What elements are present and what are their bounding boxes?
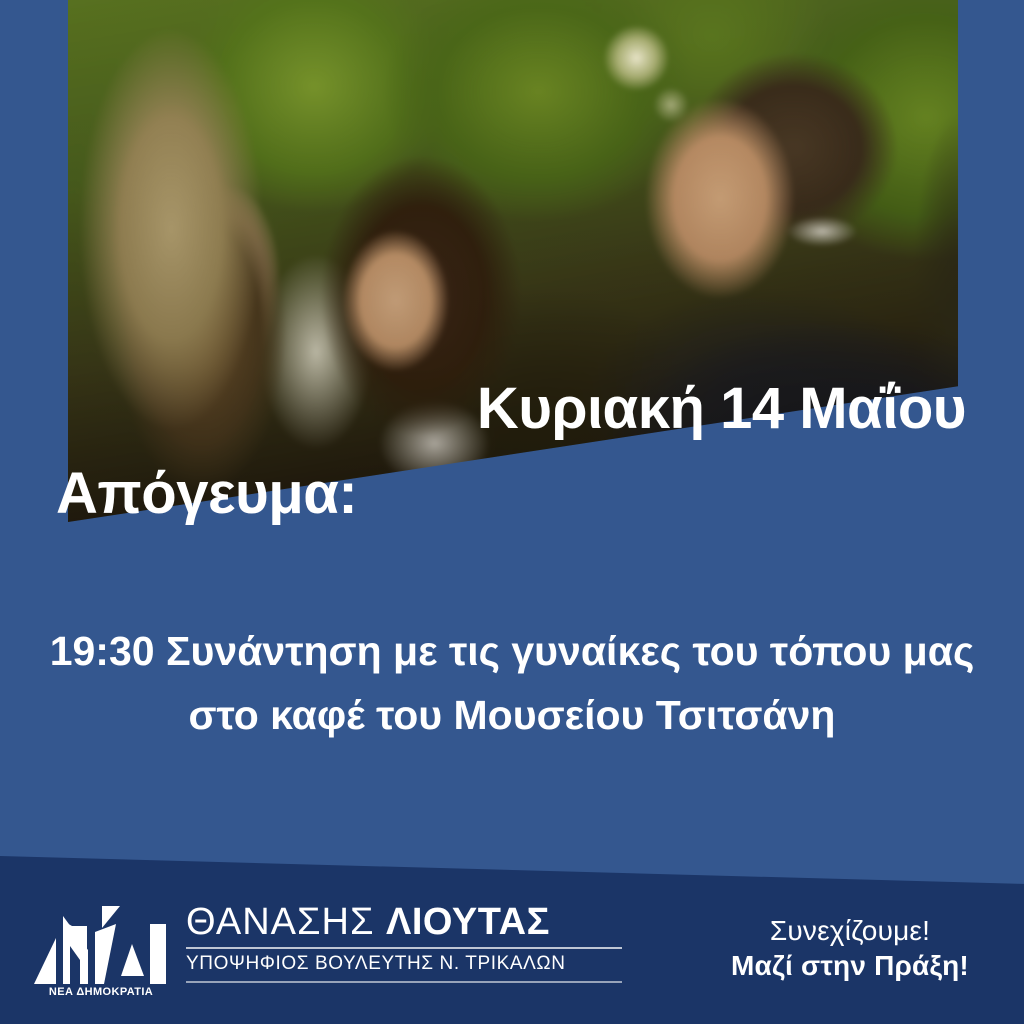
schedule-line-2: στο καφέ του Μουσείου Τσιτσάνη [26, 684, 998, 748]
footer-content: ΝΕΑ ΔΗΜΟΚΡΑΤΙΑ ΘΑΝΑΣΗΣ ΛΙΟΥΤΑΣ ΥΠΟΨΗΦΙΟΣ… [0, 854, 1024, 1024]
event-schedule: 19:30 Συνάντηση με τις γυναίκες του τόπο… [0, 620, 1024, 747]
slogan-line-2: Μαζί στην Πράξη! [700, 949, 1000, 984]
event-date: Κυριακή 14 Μαΐου [0, 379, 966, 440]
schedule-line-1: 19:30 Συνάντηση με τις γυναίκες του τόπο… [26, 620, 998, 684]
party-name-label: ΝΕΑ ΔΗΜΟΚΡΑΤΙΑ [26, 986, 176, 998]
campaign-poster: Κυριακή 14 Μαΐου Απόγευμα: 19:30 Συνάντη… [0, 0, 1024, 1024]
party-logo: ΝΕΑ ΔΗΜΟΚΡΑΤΙΑ [26, 902, 176, 1006]
candidate-name: ΘΑΝΑΣΗΣ ΛΙΟΥΤΑΣ [186, 902, 622, 942]
poster-footer: ΝΕΑ ΔΗΜΟΚΡΑΤΙΑ ΘΑΝΑΣΗΣ ΛΙΟΥΤΑΣ ΥΠΟΨΗΦΙΟΣ… [0, 854, 1024, 1024]
divider-top [186, 947, 622, 949]
candidate-identity: ΘΑΝΑΣΗΣ ΛΙΟΥΤΑΣ ΥΠΟΨΗΦΙΟΣ ΒΟΥΛΕΥΤΗΣ Ν. Τ… [186, 902, 622, 987]
candidate-first-name: ΘΑΝΑΣΗΣ [186, 901, 374, 943]
candidate-role: ΥΠΟΨΗΦΙΟΣ ΒΟΥΛΕΥΤΗΣ Ν. ΤΡΙΚΑΛΩΝ [186, 953, 622, 977]
event-photo [68, 0, 958, 522]
event-part-of-day: Απόγευμα: [56, 464, 357, 525]
campaign-slogan: Συνεχίζουμε! Μαζί στην Πράξη! [700, 914, 1000, 983]
slogan-line-1: Συνεχίζουμε! [700, 914, 1000, 949]
event-photo-image [68, 0, 958, 522]
nd-logo-icon [32, 902, 172, 984]
candidate-last-name: ΛΙΟΥΤΑΣ [386, 901, 550, 943]
divider-bottom [186, 981, 622, 983]
